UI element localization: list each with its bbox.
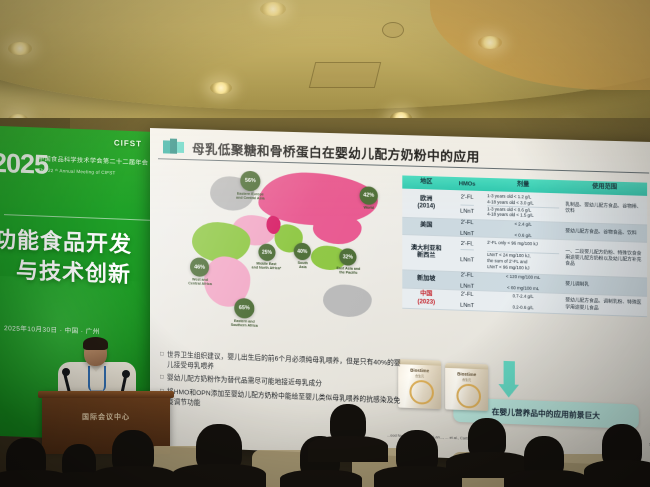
table-cell-hmos: 2'-FLLNnT [450, 237, 484, 273]
bullet-square-icon: □ [160, 374, 167, 384]
table-cell-scope: 婴幼儿配方食品、谷物食品、饮料 [562, 223, 647, 242]
table-cell-dose: 2'-FL only < 96 mg/100 kJ LNnT < 24 mg/1… [484, 238, 562, 275]
table-header-region: 地区 [402, 177, 450, 188]
can-lid [445, 363, 488, 370]
slide-badge-icon [163, 138, 185, 154]
map-bubble: 32% [339, 248, 356, 266]
map-region-highlight [266, 216, 280, 235]
map-bubble: 46% [190, 257, 209, 277]
audience-shoulders [584, 460, 650, 487]
microphone-head-icon [62, 368, 70, 376]
can-ring-graphic [409, 380, 433, 405]
audience-shoulders [504, 470, 588, 487]
projection-screen: 母乳低聚糖和骨桥蛋白在婴幼儿配方奶粉中的应用 56% Eastern Europ… [150, 128, 650, 467]
table-cell-dose: 0.7-2.4 g/L 0.2-0.6 g/L [484, 291, 562, 313]
map-region-australia [323, 284, 372, 318]
table-cell-dose: 1-3 years old < 1.2 g/L4-18 years old < … [484, 191, 562, 222]
down-arrow-icon [504, 361, 515, 386]
can-sub-label: 合生元 [445, 377, 488, 383]
podium-top [38, 391, 174, 398]
banner-theme-line2: 与技术创新 [16, 253, 131, 289]
table-cell-scope: 婴幼儿配方食品、调制乳粉、特殊医学用途婴儿食品 [562, 294, 647, 316]
map-bubble-label: West andCentral Africa [170, 277, 230, 288]
downlight-icon [8, 42, 32, 55]
map-region-china [313, 213, 362, 245]
table-cell-hmos: 2'-FLLNnT [450, 272, 484, 290]
downlight-icon [478, 36, 502, 49]
banner-conference-en: The 22 ᵗʰ Annual Meeting of CIFST [38, 167, 116, 175]
table-cell-dose: < 120 mg/100 mL < 60 mg/100 mL [484, 273, 562, 293]
banner-divider [4, 214, 152, 221]
audience-shoulders [172, 464, 266, 487]
audience-shoulders [308, 436, 388, 462]
banner-conference-cn: 中国食品科学技术学会第二十二届年会 [38, 155, 148, 168]
audience-shoulders [280, 470, 362, 487]
map-bubble-label: Eastern andSouthern Africa [214, 318, 274, 329]
speaker-lanyard [88, 366, 106, 392]
map-bubble: 40% [294, 243, 311, 261]
bullet-square-icon: □ [160, 350, 167, 371]
table-cell-scope: 一、二段婴儿配方奶粉、特殊饮食食用途婴儿配方奶粉以及幼儿配方补充食品 [562, 240, 647, 277]
slide-bullet-list: □ 世界卫生组织建议，婴儿出生后的前6个月必须纯母乳喂养，但是只有40%的婴儿接… [160, 350, 402, 420]
map-bubble: 65% [234, 298, 254, 319]
product-can: Biostime 合生元 [398, 359, 441, 409]
map-bubble: 42% [360, 186, 378, 205]
regulation-table: 地区 HMOs 剂量 使用范围 欧洲(2014) 2'-FLLNnT 1-3 y… [402, 175, 647, 317]
can-sub-label: 合生元 [398, 373, 441, 379]
table-cell-scope: 乳制品、婴幼儿配方食品、谷物棒、饮料 [562, 193, 647, 224]
can-ring-graphic [456, 383, 481, 408]
downlight-icon [210, 82, 232, 94]
table-cell-hmos: 2'-FLLNnT [450, 190, 484, 219]
downlight-icon [260, 2, 286, 16]
speaker-hair [83, 337, 108, 350]
can-lid [398, 359, 441, 366]
cifst-logo: CIFST [114, 138, 142, 148]
product-can: Biostime 合生元 [445, 363, 488, 411]
table-cell-dose: < 2.4 g/L < 0.6 g/L [484, 220, 562, 239]
table-header-hmos: HMOs [450, 179, 484, 188]
table-cell-region: 美国 [402, 218, 450, 236]
banner-year: 2025 [0, 148, 48, 181]
podium-venue-text: 国际会议中心 [42, 412, 170, 422]
down-arrow-head-icon [498, 384, 519, 398]
ceiling-speaker [382, 22, 404, 38]
map-bubble: 25% [258, 243, 275, 261]
map-bubble: 56% [240, 171, 260, 192]
map-bubble-label: East Asia andthe Pacific [318, 266, 379, 277]
conference-photo: CIFST 2025 中国食品科学技术学会第二十二届年会 The 22 ᵗʰ A… [0, 0, 650, 487]
microphone-head-icon [122, 370, 130, 378]
world-map: 56% Eastern Europeand Central Asia 42% W… [162, 168, 398, 352]
audience-shoulders [92, 466, 176, 487]
table-cell-hmos: 2'-FLLNnT [450, 219, 484, 236]
ceiling-vent [309, 62, 381, 88]
table-cell-region: 中国(2023) [402, 289, 450, 310]
map-bubble-label: Eastern Europeand Central Asia [220, 191, 280, 202]
table-cell-region: 新加坡 [402, 270, 450, 289]
table-cell-region: 澳大利亚和新西兰 [402, 235, 450, 271]
table-cell-scope: 婴儿调制乳 [562, 276, 647, 296]
table-cell-region: 欧洲(2014) [402, 189, 450, 219]
table-cell-hmos: 2'-FLLNnT [450, 290, 484, 310]
